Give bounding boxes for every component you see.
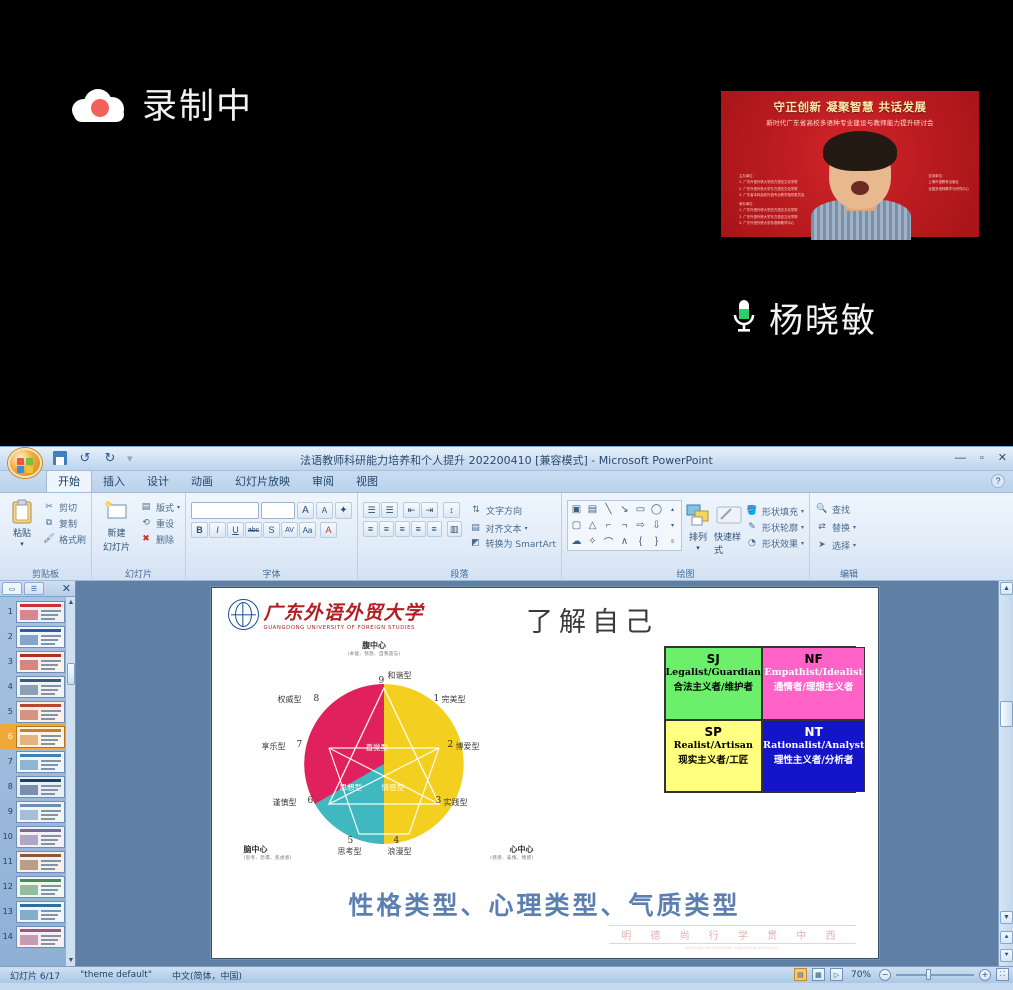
minimize-button[interactable]: — <box>955 452 966 464</box>
text-direction-button[interactable]: ⇅ 文字方向 <box>469 502 522 518</box>
replace-label: 替换 <box>832 521 850 534</box>
shape-more-down-icon[interactable]: ▾ <box>665 518 680 533</box>
university-motto: 明 德 尚 行 学 贯 中 西 MINGDE SHANGXING XUEGUAN… <box>609 925 855 950</box>
slide-thumbnail-preview <box>16 726 65 748</box>
replace-icon: ⇄ <box>815 520 829 534</box>
view-normal-button[interactable]: ▤ <box>794 968 807 981</box>
slide-thumbnail-14[interactable]: 14 <box>0 924 65 949</box>
slide-thumbnail-preview <box>16 601 65 623</box>
enneagram-label-4: 浪漫型 <box>388 846 412 857</box>
slide-thumbnail-number: 3 <box>2 657 13 666</box>
cut-button[interactable]: ✂ 剪切 <box>42 500 86 514</box>
shape-oval-icon[interactable]: ◯ <box>649 502 664 517</box>
mbti-sj-code: SJ <box>707 652 720 666</box>
mbti-sp-en: Realist/Artisan <box>674 740 753 751</box>
ribbon-group-drawing: ▣ ▤ ╲ ↘ ▭ ◯ ▴ ▢ △ ⌐ ¬ ⇨ ⇩ ▾ ☁ <box>562 493 810 581</box>
slide-thumbnail-number: 11 <box>2 857 13 866</box>
thumbnail-list[interactable]: 1234567891011121314 <box>0 597 65 966</box>
shape-line-icon[interactable]: ╲ <box>601 502 616 517</box>
slides-group-label: 幻灯片 <box>92 567 185 580</box>
slide-thumbnail-2[interactable]: 2 <box>0 624 65 649</box>
shape-elbow-icon[interactable]: ⌐ <box>601 518 616 533</box>
slide-thumbnail-preview <box>16 751 65 773</box>
slide-thumbnail-9[interactable]: 9 <box>0 799 65 824</box>
shape-rect-icon[interactable]: ▭ <box>633 502 648 517</box>
mbti-sp-code: SP <box>705 725 722 739</box>
layout-label: 版式 <box>156 501 174 514</box>
slide-title: 了解自己 <box>212 600 878 639</box>
enneagram-label-5: 思考型 <box>338 846 362 857</box>
smartart-icon: ◩ <box>469 536 483 550</box>
increase-indent-button[interactable]: ⇥ <box>421 502 438 518</box>
close-button[interactable]: ✕ <box>998 451 1007 464</box>
help-icon[interactable]: ? <box>991 474 1005 488</box>
fit-to-window-button[interactable]: ⛶ <box>996 968 1009 981</box>
slide-thumbnail-number: 4 <box>2 682 13 691</box>
video-text-right: 支持单位： 上海外语教育出版社 全国多语种教学与研究中心 <box>928 173 969 192</box>
recording-badge: 录制中 <box>72 78 253 129</box>
slide-thumbnail-pane: ▭ ☰ ✕ 1234567891011121314 ▲ ▼ <box>0 581 76 966</box>
align-center-button[interactable]: ≡ <box>379 521 394 537</box>
slide-thumbnail-13[interactable]: 13 <box>0 899 65 924</box>
text-direction-label: 文字方向 <box>486 504 522 517</box>
quick-styles-button[interactable]: 快速样式 <box>714 500 742 556</box>
close-pane-icon[interactable]: ✕ <box>62 582 71 595</box>
shape-triangle-icon[interactable]: △ <box>585 518 600 533</box>
decrease-indent-button[interactable]: ⇤ <box>403 502 420 518</box>
slide-thumbnail-number: 9 <box>2 807 13 816</box>
shape-fill-dropdown-icon[interactable]: ▾ <box>801 508 804 515</box>
thumb-scroll-up-icon[interactable]: ▲ <box>66 597 76 608</box>
editing-group-label: 编辑 <box>820 567 878 580</box>
slide-thumbnail-number: 6 <box>2 732 13 741</box>
select-button[interactable]: ➤ 选择 ▾ <box>815 538 856 552</box>
shape-effects-dropdown-icon[interactable]: ▾ <box>801 540 804 547</box>
scissors-icon: ✂ <box>42 500 56 514</box>
paste-dropdown-icon[interactable]: ▾ <box>20 540 24 548</box>
paragraph-group-label: 段落 <box>358 567 561 580</box>
ribbon-group-clipboard: 粘贴 ▾ ✂ 剪切 ⧉ 复制 🖌 <box>0 493 92 581</box>
shape-gallery-expand-icon[interactable]: ≡ <box>665 534 680 549</box>
video-banner-subtitle: 新时代广东省高校多语种专业建设与教师能力提升研讨会 <box>721 117 979 127</box>
shape-gallery[interactable]: ▣ ▤ ╲ ↘ ▭ ◯ ▴ ▢ △ ⌐ ¬ ⇨ ⇩ ▾ ☁ <box>567 500 682 551</box>
slide-thumbnail-preview <box>16 776 65 798</box>
mbti-sp-cn: 现实主义者/工匠 <box>678 752 748 766</box>
slide-thumbnail-number: 8 <box>2 782 13 791</box>
justify-button[interactable]: ≡ <box>411 521 426 537</box>
slide-thumbnail-preview <box>16 876 65 898</box>
powerpoint-window: ↺ ↻ ▾ 法语教师科研能力培养和个人提升 202200410 [兼容模式] -… <box>0 446 1013 990</box>
shape-brace-right-icon[interactable]: } <box>649 534 664 549</box>
slide-thumbnail-number: 5 <box>2 707 13 716</box>
paste-icon <box>9 499 35 525</box>
arrange-button[interactable]: 排列 ▾ <box>685 500 711 552</box>
align-text-button[interactable]: ▤ 对齐文本 ▾ <box>469 521 556 535</box>
tab-view[interactable]: 视图 <box>345 471 389 492</box>
shape-more-up-icon[interactable]: ▴ <box>665 502 680 517</box>
layout-icon: ▤ <box>139 500 153 514</box>
language-indicator[interactable]: 中文(简体，中国) <box>162 969 252 982</box>
strikethrough-button[interactable]: abc <box>245 522 262 538</box>
center-heart: 心中心 (感受、羞愧、情感) <box>490 844 533 861</box>
slide-thumbnail-preview <box>16 826 65 848</box>
mbti-sj-cn: 合法主义者/维护者 <box>673 679 752 693</box>
status-bar-right: ▤ ▦ ▷ 70% − + ⛶ <box>794 968 1009 981</box>
mbti-quadrant-nf: NF Empathist/Idealist 通情者/理想主义者 <box>762 647 865 720</box>
center-belly: 腹中心 (本能、愤怒、自我遗忘) <box>348 640 401 657</box>
binoculars-icon: 🔍 <box>815 502 829 516</box>
shape-picture-icon[interactable]: ▤ <box>585 502 600 517</box>
copy-label: 复制 <box>59 517 77 530</box>
delete-icon: ✖ <box>139 532 153 546</box>
shape-arc-icon[interactable]: ∧ <box>617 534 632 549</box>
align-text-label: 对齐文本 <box>486 522 522 535</box>
new-slide-label-2: 幻灯片 <box>103 540 130 553</box>
delete-slide-button[interactable]: ✖ 删除 <box>139 532 180 546</box>
fill-bucket-icon: 🪣 <box>745 504 759 518</box>
slide-editing-surface[interactable]: 广东外语外贸大学 GUANGDONG UNIVERSITY OF FOREIGN… <box>76 581 1013 966</box>
window-title: 法语教师科研能力培养和个人提升 202200410 [兼容模式] - Micro… <box>0 452 1013 468</box>
zoom-slider-handle[interactable] <box>926 969 931 980</box>
enneagram-label-9: 和谐型 <box>388 670 412 681</box>
new-slide-button[interactable]: 新建 幻灯片 <box>97 496 136 553</box>
mbti-quadrant-nt: NT Rationalist/Analyst 理性主义者/分析者 <box>762 720 865 793</box>
tab-slideshow[interactable]: 幻灯片放映 <box>224 471 301 492</box>
zoom-out-button[interactable]: − <box>879 969 891 981</box>
cut-label: 剪切 <box>59 501 77 514</box>
shape-textbox-icon[interactable]: ▣ <box>569 502 584 517</box>
shape-effects-button[interactable]: ◔ 形状效果 ▾ <box>745 536 804 550</box>
shape-effects-label: 形状效果 <box>762 537 798 550</box>
slide-thumbnail-11[interactable]: 11 <box>0 849 65 874</box>
presenter-video-tile[interactable]: 守正创新 凝聚智慧 共话发展 新时代广东省高校多语种专业建设与教师能力提升研讨会… <box>719 88 981 240</box>
enneagram-num-4: 4 <box>394 836 400 846</box>
drawing-group-label: 绘图 <box>562 567 809 580</box>
view-slideshow-button[interactable]: ▷ <box>830 968 843 981</box>
align-right-button[interactable]: ≡ <box>395 521 410 537</box>
tab-animations[interactable]: 动画 <box>180 471 224 492</box>
slide-thumbnail-preview <box>16 901 65 923</box>
slide-thumbnail-1[interactable]: 1 <box>0 599 65 624</box>
enneagram-label-3: 实践型 <box>444 797 468 808</box>
slide-thumbnail-number: 12 <box>2 882 13 891</box>
align-text-dropdown-icon[interactable]: ▾ <box>525 525 528 532</box>
zoom-slider[interactable] <box>896 968 974 981</box>
slide-thumbnail-7[interactable]: 7 <box>0 749 65 774</box>
bold-button[interactable]: B <box>191 522 208 538</box>
font-group-label: 字体 <box>186 567 357 580</box>
cursor-icon: ➤ <box>815 538 829 552</box>
mbti-nt-cn: 理性主义者/分析者 <box>774 752 853 766</box>
slide-vertical-scrollbar[interactable]: ▲ ▼ ⯅ ⯆ <box>998 581 1013 966</box>
mbti-nt-en: Rationalist/Analyst <box>763 740 864 751</box>
enneagram-num-9: 9 <box>379 676 385 686</box>
mbti-quadrant-sj: SJ Legalist/Guardian 合法主义者/维护者 <box>665 647 762 720</box>
outline-pen-icon: ✎ <box>745 520 759 534</box>
slide-thumbnail-preview <box>16 626 65 648</box>
replace-dropdown-icon[interactable]: ▾ <box>853 524 856 531</box>
enneagram-label-2: 博爱型 <box>456 741 480 752</box>
screen-root: 录制中 守正创新 凝聚智慧 共话发展 新时代广东省高校多语种专业建设与教师能力提… <box>0 0 1013 990</box>
arrange-label: 排列 <box>689 530 707 543</box>
slide-thumbnail-8[interactable]: 8 <box>0 774 65 799</box>
numbering-button[interactable]: ☰ <box>381 502 398 518</box>
thumb-scroll-down-icon[interactable]: ▼ <box>66 955 76 966</box>
ribbon-tabs: 开始 插入 设计 动画 幻灯片放映 审阅 视图 ? <box>0 471 1013 493</box>
slide-counter: 幻灯片 6/17 <box>0 969 70 982</box>
text-shadow-button[interactable]: S <box>263 522 280 538</box>
presenter-figure <box>815 137 907 239</box>
underline-button[interactable]: U <box>227 522 244 538</box>
enneagram-num-1: 1 <box>434 694 440 704</box>
enneagram-num-7: 7 <box>297 740 303 750</box>
copy-button[interactable]: ⧉ 复制 <box>42 516 86 530</box>
shape-fill-label: 形状填充 <box>762 505 798 518</box>
shape-outline-button[interactable]: ✎ 形状轮廓 ▾ <box>745 520 804 534</box>
slide-thumbnail-number: 13 <box>2 907 13 916</box>
enneagram-label-6: 谨慎型 <box>273 797 297 808</box>
speaker-name: 杨晓敏 <box>769 293 877 342</box>
enneagram-diagram: 腹中心 (本能、愤怒、自我遗忘) 脑中心 (思考、恐惧、焦虑感) 心中心 (感受… <box>248 640 528 890</box>
font-color-button[interactable]: A <box>320 522 337 538</box>
clipboard-group-label: 剪贴板 <box>0 567 91 580</box>
video-text-left-2: 承办单位： 1. 广东外语外贸大学西方语言文化学院 2. 广东外语外贸大学东方语… <box>739 201 798 227</box>
shape-outline-label: 形状轮廓 <box>762 521 798 534</box>
video-text-left-1: 主办单位： 1. 广东外语外贸大学西方语言文化学院 2. 广东外语外贸大学东方语… <box>739 173 804 199</box>
line-spacing-button[interactable]: ↕ <box>443 502 460 518</box>
shrink-font-button[interactable]: A <box>316 502 333 519</box>
cloud-record-icon <box>72 85 126 123</box>
thumbnail-scrollbar[interactable]: ▲ ▼ <box>65 597 75 966</box>
previous-slide-icon[interactable]: ⯅ <box>1000 931 1013 944</box>
slide-thumbnail-4[interactable]: 4 <box>0 674 65 699</box>
slide-thumbnail-number: 10 <box>2 832 13 841</box>
inner-label-intuition: 直觉型 <box>366 742 389 753</box>
format-painter-button[interactable]: 🖌 格式刷 <box>42 532 86 546</box>
shape-outline-dropdown-icon[interactable]: ▾ <box>801 524 804 531</box>
align-text-icon: ▤ <box>469 521 483 535</box>
font-size-input[interactable] <box>261 502 295 519</box>
mbti-nf-code: NF <box>805 652 823 666</box>
scroll-up-icon[interactable]: ▲ <box>1000 582 1013 595</box>
arrange-dropdown-icon[interactable]: ▾ <box>696 544 700 552</box>
arrange-icon <box>685 503 711 529</box>
zoom-in-button[interactable]: + <box>979 969 991 981</box>
slide-thumbnail-number: 1 <box>2 607 13 616</box>
slide-thumbnail-number: 7 <box>2 757 13 766</box>
editor-canvas-area: ▭ ☰ ✕ 1234567891011121314 ▲ ▼ 广东外语外贸大学 <box>0 581 1013 966</box>
slide-thumbnail-number: 14 <box>2 932 13 941</box>
slide-thumbnail-preview <box>16 676 65 698</box>
thumbnail-scroll-thumb[interactable] <box>67 663 75 685</box>
window-controls: — ▫ ✕ <box>955 451 1007 464</box>
bullets-button[interactable]: ☰ <box>363 502 380 518</box>
slide-thumbnail-preview <box>16 801 65 823</box>
columns-button[interactable]: ▥ <box>447 521 462 537</box>
maximize-button[interactable]: ▫ <box>980 452 984 464</box>
grow-font-button[interactable]: A <box>297 502 314 519</box>
enneagram-num-8: 8 <box>314 694 320 704</box>
quick-styles-icon <box>715 503 741 529</box>
slide-thumbnail-10[interactable]: 10 <box>0 824 65 849</box>
replace-button[interactable]: ⇄ 替换 ▾ <box>815 520 856 534</box>
convert-smartart-label: 转换为 SmartArt <box>486 537 556 550</box>
mbti-nf-en: Empathist/Idealist <box>764 667 862 678</box>
ribbon-group-font: A A ✦ B I U abc S AV Aa A 字体 <box>186 493 358 581</box>
shape-roundrect-icon[interactable]: ▢ <box>569 518 584 533</box>
speaker-label-row: 杨晓敏 <box>729 293 877 342</box>
shape-arrow-right-icon[interactable]: ⇨ <box>633 518 648 533</box>
new-slide-label-1: 新建 <box>107 526 125 539</box>
slide-thumbnail-5[interactable]: 5 <box>0 699 65 724</box>
current-slide[interactable]: 广东外语外贸大学 GUANGDONG UNIVERSITY OF FOREIGN… <box>211 587 879 959</box>
thumbnail-pane-tabs: ▭ ☰ ✕ <box>0 581 75 597</box>
shape-arrow-icon[interactable]: ↘ <box>617 502 632 517</box>
select-dropdown-icon[interactable]: ▾ <box>853 542 856 549</box>
center-head: 脑中心 (思考、恐惧、焦虑感) <box>244 844 292 861</box>
tab-insert[interactable]: 插入 <box>92 471 136 492</box>
slide-thumbnail-number: 2 <box>2 632 13 641</box>
video-frame: 守正创新 凝聚智慧 共话发展 新时代广东省高校多语种专业建设与教师能力提升研讨会… <box>721 91 979 237</box>
slide-thumbnail-3[interactable]: 3 <box>0 649 65 674</box>
next-slide-icon[interactable]: ⯆ <box>1000 949 1013 962</box>
tab-review[interactable]: 审阅 <box>301 471 345 492</box>
enneagram-label-1: 完美型 <box>442 694 466 705</box>
scroll-thumb[interactable] <box>1000 701 1013 727</box>
enneagram-num-5: 5 <box>348 836 354 846</box>
slide-thumbnail-preview <box>16 701 65 723</box>
quick-styles-label: 快速样式 <box>714 530 742 556</box>
align-left-button[interactable]: ≡ <box>363 521 378 537</box>
theme-name[interactable]: "theme default" <box>70 970 162 980</box>
slide-thumbnail-preview <box>16 651 65 673</box>
shape-cloud-icon[interactable]: ☁ <box>569 534 584 549</box>
shape-arrow-down-icon[interactable]: ⇩ <box>649 518 664 533</box>
slide-thumbnail-12[interactable]: 12 <box>0 874 65 899</box>
paste-button[interactable]: 粘贴 ▾ <box>5 496 39 548</box>
slide-thumbnail-preview <box>16 851 65 873</box>
ribbon-group-slides: 新建 幻灯片 ▤ 版式 ▾ ⟲ 重设 <box>92 493 186 581</box>
mbti-sj-en: Legalist/Guardian <box>666 667 761 678</box>
italic-button[interactable]: I <box>209 522 226 538</box>
view-slide-sorter-button[interactable]: ▦ <box>812 968 825 981</box>
enneagram-num-6: 6 <box>308 796 314 806</box>
mbti-quadrant-chart: SJ Legalist/Guardian 合法主义者/维护者 NF Empath… <box>664 646 856 793</box>
slide-bottom-text: 性格类型、心理类型、气质类型 <box>212 886 878 922</box>
inner-label-emotion: 情感型 <box>382 782 405 793</box>
tab-design[interactable]: 设计 <box>136 471 180 492</box>
ribbon-group-editing: 🔍 查找 ⇄ 替换 ▾ ➤ 选择 ▾ <box>810 493 1013 581</box>
motto-chinese: 明 德 尚 行 学 贯 中 西 <box>609 925 855 944</box>
ribbon: 粘贴 ▾ ✂ 剪切 ⧉ 复制 🖌 <box>0 493 1013 581</box>
convert-smartart-button[interactable]: ◩ 转换为 SmartArt <box>469 536 556 550</box>
tab-home[interactable]: 开始 <box>46 470 92 492</box>
tab-outline[interactable]: ☰ <box>24 582 44 595</box>
title-bar: ↺ ↻ ▾ 法语教师科研能力培养和个人提升 202200410 [兼容模式] -… <box>0 447 1013 471</box>
shape-brace-left-icon[interactable]: { <box>633 534 648 549</box>
ribbon-group-paragraph: ☰ ☰ ⇤ ⇥ ↕ ⇅ 文字方向 ≡ ≡ ≡ ≡ <box>358 493 562 581</box>
video-overlay-region: 录制中 守正创新 凝聚智慧 共话发展 新时代广东省高校多语种专业建设与教师能力提… <box>0 0 1013 446</box>
reset-icon: ⟲ <box>139 516 153 530</box>
video-banner-title: 守正创新 凝聚智慧 共话发展 <box>721 99 979 115</box>
enneagram-wheel <box>304 684 464 844</box>
shape-star-icon[interactable]: ✧ <box>585 534 600 549</box>
recording-label: 录制中 <box>142 78 253 129</box>
paintbrush-icon: 🖌 <box>42 532 56 546</box>
enneagram-label-7: 享乐型 <box>262 741 286 752</box>
slide-thumbnail-6[interactable]: 6 <box>0 724 65 749</box>
office-orb-icon[interactable] <box>8 448 42 478</box>
paste-label: 粘贴 <box>13 526 31 539</box>
effects-icon: ◔ <box>745 536 759 550</box>
enneagram-num-3: 3 <box>436 796 442 806</box>
copy-icon: ⧉ <box>42 516 56 530</box>
zoom-level-label[interactable]: 70% <box>848 970 874 980</box>
character-spacing-button[interactable]: AV <box>281 522 298 538</box>
tab-slides-thumbnails[interactable]: ▭ <box>2 582 22 595</box>
font-name-input[interactable] <box>191 502 259 519</box>
shape-elbow2-icon[interactable]: ¬ <box>617 518 632 533</box>
mbti-nf-cn: 通情者/理想主义者 <box>774 679 853 693</box>
status-bar: 幻灯片 6/17 "theme default" 中文(简体，中国) ▤ ▦ ▷… <box>0 966 1013 983</box>
delete-label: 删除 <box>156 533 174 546</box>
enneagram-num-2: 2 <box>448 740 454 750</box>
format-painter-label: 格式刷 <box>59 533 86 546</box>
inner-label-thought: 思想型 <box>340 782 363 793</box>
mbti-nt-code: NT <box>805 725 823 739</box>
scroll-down-icon[interactable]: ▼ <box>1000 911 1013 924</box>
clear-formatting-button[interactable]: ✦ <box>335 502 352 519</box>
reset-button[interactable]: ⟲ 重设 <box>139 516 180 530</box>
reset-label: 重设 <box>156 517 174 530</box>
text-direction-icon: ⇅ <box>469 503 483 517</box>
mbti-quadrant-sp: SP Realist/Artisan 现实主义者/工匠 <box>665 720 762 793</box>
shape-curve-icon[interactable]: ⌒ <box>601 534 616 549</box>
find-button[interactable]: 🔍 查找 <box>815 502 856 516</box>
shape-fill-button[interactable]: 🪣 形状填充 ▾ <box>745 504 804 518</box>
microphone-icon <box>729 298 759 338</box>
layout-button[interactable]: ▤ 版式 ▾ <box>139 500 180 514</box>
slide-thumbnail-preview <box>16 926 65 948</box>
enneagram-label-8: 权威型 <box>278 694 302 705</box>
change-case-button[interactable]: Aa <box>299 522 316 538</box>
layout-dropdown-icon[interactable]: ▾ <box>177 504 180 511</box>
new-slide-icon <box>103 499 129 525</box>
select-label: 选择 <box>832 539 850 552</box>
distribute-button[interactable]: ≡ <box>427 521 442 537</box>
motto-english: MINGDE SHANGXING XUEGUAN ZHONGXI <box>609 945 855 950</box>
find-label: 查找 <box>832 503 850 516</box>
